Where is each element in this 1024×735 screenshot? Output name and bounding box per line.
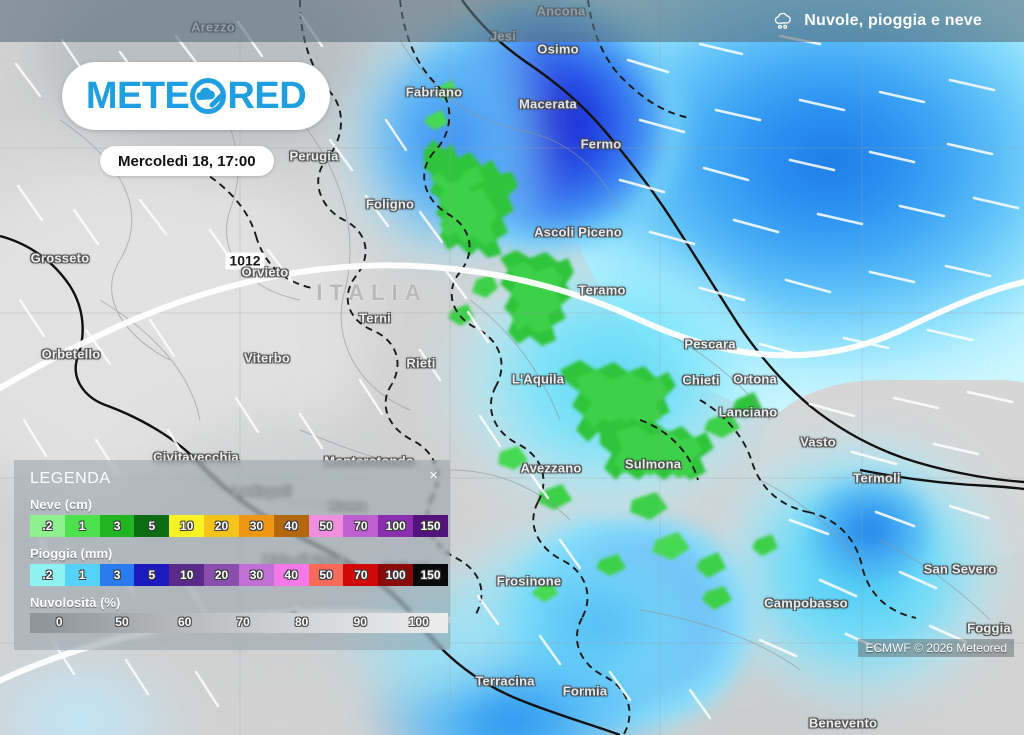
snow-stop[interactable]: 20: [204, 515, 239, 537]
rain-stop[interactable]: 50: [309, 564, 344, 586]
city-label: Ortona: [733, 372, 777, 387]
snow-stop[interactable]: 10: [169, 515, 204, 537]
city-label: Frosinone: [497, 574, 562, 589]
legend-clouds-title: Nuvolosità (%): [30, 595, 434, 610]
rain-stop[interactable]: 40: [274, 564, 309, 586]
cloud-in-circle-icon: [190, 78, 226, 114]
close-icon[interactable]: ×: [429, 468, 438, 483]
snow-stop[interactable]: 100: [378, 515, 413, 537]
city-label: Viterbo: [244, 351, 290, 366]
rain-stop[interactable]: 5: [134, 564, 169, 586]
city-label: Campobasso: [764, 596, 848, 611]
legend-group-rain: Pioggia (mm) .2135102030405070100150: [30, 546, 434, 586]
cloud-scale-tick: 70: [236, 615, 249, 629]
rain-color-scale[interactable]: .2135102030405070100150: [30, 564, 448, 586]
city-label: Avezzano: [520, 461, 581, 476]
city-label: Orvieto: [242, 265, 289, 280]
cloud-color-scale[interactable]: 05060708090100: [30, 613, 448, 633]
snow-stop[interactable]: 30: [239, 515, 274, 537]
cloud-scale-tick: 100: [409, 615, 429, 629]
rain-stop[interactable]: 20: [204, 564, 239, 586]
cloud-scale-tick: 80: [295, 615, 308, 629]
forecast-timestamp-pill[interactable]: Mercoledì 18, 17:00: [100, 146, 274, 176]
city-label: Macerata: [519, 97, 577, 112]
snow-stop[interactable]: .2: [30, 515, 65, 537]
rain-stop[interactable]: 1: [65, 564, 100, 586]
rain-stop[interactable]: 150: [413, 564, 448, 586]
city-label: Lanciano: [719, 405, 778, 420]
city-label: Termoli: [853, 471, 900, 486]
legend-snow-title: Neve (cm): [30, 497, 434, 512]
city-label: Teramo: [578, 283, 625, 298]
city-label: Rieti: [406, 356, 435, 371]
city-label: Formia: [563, 684, 608, 699]
city-label: Benevento: [809, 716, 877, 731]
city-label: L'Aquila: [512, 372, 564, 387]
forecast-timestamp-label: Mercoledì 18, 17:00: [118, 153, 256, 170]
city-label: Foligno: [366, 197, 414, 212]
city-label: Terni: [359, 311, 391, 326]
city-label: Foggia: [967, 621, 1011, 636]
rain-stop[interactable]: 3: [100, 564, 135, 586]
city-label: Osimo: [537, 42, 578, 57]
snow-stop[interactable]: 3: [100, 515, 135, 537]
cloud-rain-icon: [772, 12, 794, 30]
city-label: San Severo: [924, 562, 997, 577]
attribution-label: ECMWF © 2026 Meteored: [858, 639, 1014, 657]
city-label: Fabriano: [406, 85, 463, 100]
snow-stop[interactable]: 70: [343, 515, 378, 537]
legend-group-clouds: Nuvolosità (%) 05060708090100: [30, 595, 434, 633]
logo-text-after: RED: [227, 77, 306, 115]
snow-stop[interactable]: 1: [65, 515, 100, 537]
snow-stop[interactable]: 40: [274, 515, 309, 537]
cloud-scale-tick: 60: [178, 615, 191, 629]
weather-map-screenshot: ITALIA 1012 1010 AnconaJesiOsimoArezzoFa…: [0, 0, 1024, 735]
city-label: Vasto: [800, 435, 836, 450]
map-layer-title-bar: Nuvole, pioggia e neve: [0, 0, 1024, 42]
rain-stop[interactable]: .2: [30, 564, 65, 586]
snow-stop[interactable]: 50: [309, 515, 344, 537]
city-label: Sulmona: [625, 457, 681, 472]
cloud-scale-tick: 0: [56, 615, 63, 629]
city-label: Grosseto: [31, 251, 90, 266]
city-label: Perugia: [289, 149, 338, 164]
meteored-logo[interactable]: METE RED: [62, 62, 330, 130]
city-label: Fermo: [581, 137, 622, 152]
snow-stop[interactable]: 5: [134, 515, 169, 537]
logo-text-before: METE: [86, 77, 190, 115]
rain-stop[interactable]: 70: [343, 564, 378, 586]
legend-group-snow: Neve (cm) .2135102030405070100150: [30, 497, 434, 537]
snow-color-scale[interactable]: .2135102030405070100150: [30, 515, 448, 537]
city-label: Ascoli Piceno: [534, 225, 622, 240]
city-label: Orbetello: [42, 347, 101, 362]
cloud-scale-tick: 50: [115, 615, 128, 629]
snow-stop[interactable]: 150: [413, 515, 448, 537]
rain-stop[interactable]: 30: [239, 564, 274, 586]
legend-rain-title: Pioggia (mm): [30, 546, 434, 561]
rain-stop[interactable]: 10: [169, 564, 204, 586]
city-label: Chieti: [682, 373, 719, 388]
rain-stop[interactable]: 100: [378, 564, 413, 586]
legend-title: LEGENDA: [30, 470, 434, 488]
cloud-scale-tick: 90: [354, 615, 367, 629]
legend-panel[interactable]: LEGENDA × Neve (cm) .2135102030405070100…: [14, 460, 450, 650]
city-label: Pescara: [684, 337, 735, 352]
city-label: Terracina: [475, 674, 534, 689]
map-layer-title: Nuvole, pioggia e neve: [804, 12, 982, 30]
